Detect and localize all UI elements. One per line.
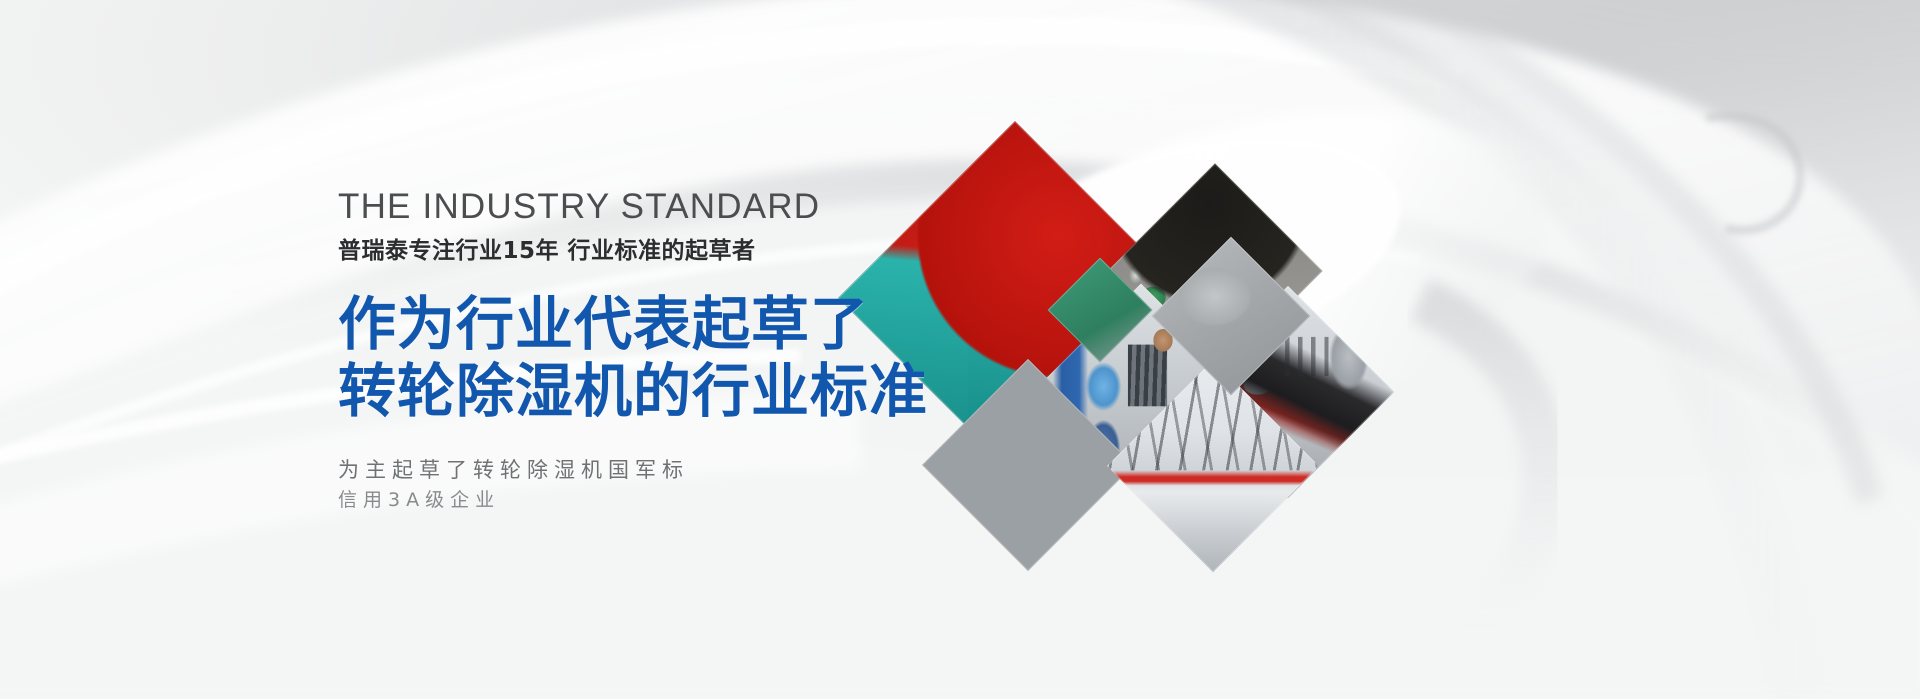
headline-line-2: 转轮除湿机的行业标准 [338, 358, 898, 425]
hero-banner: THE INDUSTRY STANDARD 普瑞泰专注行业15年 行业标准的起草… [0, 0, 1920, 699]
headline-line-1: 作为行业代表起草了 [338, 290, 869, 358]
subtext-line-1: 为主起草了转轮除湿机国军标 [338, 458, 689, 482]
eyebrow-chinese: 普瑞泰专注行业15年 行业标准的起草者 [338, 231, 898, 265]
subtext-line-2: 信用3A级企业 [338, 486, 898, 515]
diamond-photo-collage [835, 85, 1535, 615]
page-title: 作为行业代表起草了 转轮除湿机的行业标准 [338, 291, 898, 426]
eyebrow-english: THE INDUSTRY STANDARD [338, 188, 898, 225]
hero-copy: THE INDUSTRY STANDARD 普瑞泰专注行业15年 行业标准的起草… [338, 188, 898, 516]
hero-subtext: 为主起草了转轮除湿机国军标 信用3A级企业 [338, 454, 898, 516]
